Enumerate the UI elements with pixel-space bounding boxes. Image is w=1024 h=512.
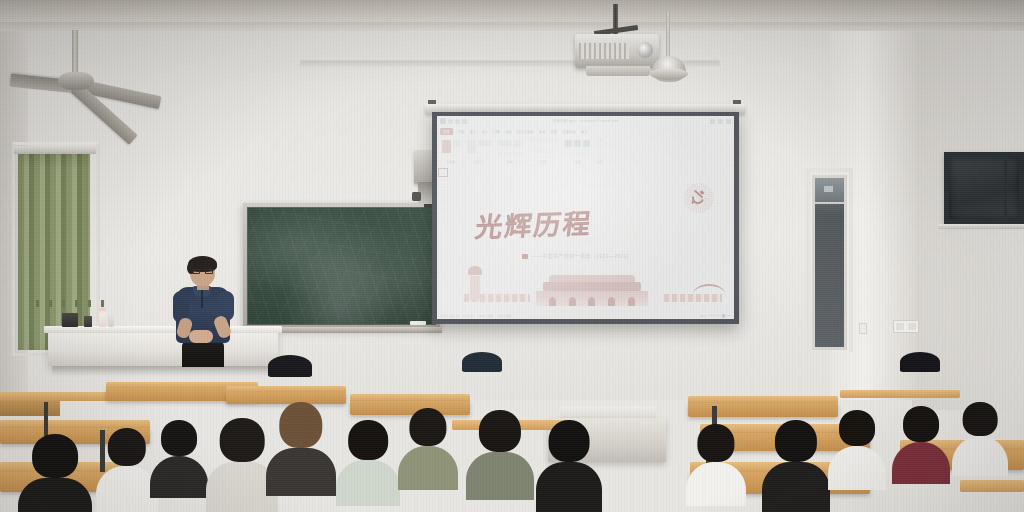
baseball-cap bbox=[900, 352, 940, 372]
cut-icon[interactable] bbox=[453, 140, 460, 147]
columns-icon[interactable] bbox=[539, 149, 543, 153]
powerpoint-title-bar: 光辉历程.pptx - Microsoft PowerPoint bbox=[437, 116, 734, 127]
status-bar: 幻灯片 第 1 张，共 18 张 “Office 主题” 中文(中国) 66% bbox=[437, 311, 734, 319]
chalk-stick bbox=[410, 321, 426, 325]
presenter-legs bbox=[182, 341, 224, 367]
projector-base bbox=[586, 66, 650, 76]
audience-torso bbox=[686, 462, 746, 506]
blackboard-surface bbox=[247, 207, 436, 325]
ribbon-group-label: 绘图 bbox=[574, 160, 580, 165]
audience-torso bbox=[828, 446, 886, 490]
audience-member bbox=[18, 434, 92, 512]
tab-home[interactable]: 开始 bbox=[458, 129, 465, 134]
gate-arches bbox=[536, 291, 648, 306]
ribbon-group-label: 字体 bbox=[507, 160, 513, 165]
podium-clear-bottle bbox=[108, 312, 114, 327]
ceiling-projector-icon bbox=[575, 34, 659, 68]
tab-format[interactable]: 格式 bbox=[581, 129, 588, 134]
tab-file[interactable]: 文件 bbox=[440, 128, 453, 135]
zoom-slider[interactable] bbox=[709, 315, 731, 316]
zoom-slider-knob[interactable] bbox=[722, 314, 725, 318]
audience-member bbox=[892, 406, 950, 484]
speaker-bracket bbox=[412, 192, 421, 201]
podium bbox=[48, 330, 278, 366]
fan-rod bbox=[72, 30, 78, 74]
align-left-icon[interactable] bbox=[544, 138, 548, 142]
light-switch-panel[interactable] bbox=[893, 320, 919, 333]
italic-icon[interactable] bbox=[503, 152, 507, 156]
audience-torso bbox=[762, 462, 830, 512]
audience-head bbox=[697, 424, 734, 462]
language-indicator: 中文(中国) bbox=[498, 314, 512, 318]
line-spacing-icon[interactable] bbox=[534, 149, 538, 153]
fan-hub bbox=[58, 72, 94, 90]
audience-head bbox=[161, 420, 197, 456]
slide-subtitle-placeholder[interactable]: ——中国共产党的一百年（1921—2021） bbox=[522, 253, 632, 260]
replace-icon[interactable] bbox=[598, 145, 602, 149]
theme-indicator: “Office 主题” bbox=[477, 314, 494, 318]
quick-styles-icon[interactable] bbox=[583, 140, 590, 147]
audience-member bbox=[466, 410, 534, 500]
tab-baidu-netdisk[interactable]: 百度网盘 bbox=[562, 129, 576, 134]
audience-torso bbox=[892, 442, 950, 484]
slide-stage: 光辉历程 ——中国共产党的一百年（1921—2021） bbox=[450, 166, 734, 311]
door-sign bbox=[824, 186, 833, 192]
tab-slideshow[interactable]: 幻灯片放映 bbox=[517, 129, 534, 134]
lens-left bbox=[192, 269, 200, 274]
powerpoint-body: 光辉历程 ——中国共产党的一百年（1921—2021） bbox=[437, 166, 734, 311]
slide-thumbnail-pane[interactable] bbox=[437, 166, 450, 311]
window bbox=[944, 152, 1024, 224]
gate-arch bbox=[549, 297, 556, 306]
tower-roof bbox=[468, 266, 482, 275]
audience-torso bbox=[266, 448, 336, 496]
audience-member bbox=[398, 408, 458, 490]
indent-icon[interactable] bbox=[539, 138, 543, 142]
curtain-rail bbox=[14, 146, 96, 154]
audience-torso bbox=[18, 478, 92, 512]
shapes-icon[interactable] bbox=[565, 140, 572, 147]
slide-title-text: 光辉历程 bbox=[473, 201, 594, 244]
new-slide-icon[interactable] bbox=[467, 140, 476, 153]
tab-view[interactable]: 视图 bbox=[550, 129, 557, 134]
text-direction-icon[interactable] bbox=[544, 149, 548, 153]
ribbon-group-paragraph[interactable]: 段落 bbox=[526, 138, 562, 165]
audience-torso bbox=[96, 466, 158, 512]
audience-member bbox=[828, 410, 886, 490]
audience-torso bbox=[536, 462, 602, 512]
shape-fill-icon[interactable] bbox=[571, 152, 575, 156]
audience-torso bbox=[398, 446, 458, 490]
underline-icon[interactable] bbox=[508, 152, 512, 156]
audience-torso bbox=[336, 460, 400, 506]
audience-head bbox=[963, 402, 998, 436]
ribbon-group-label: 编辑 bbox=[597, 160, 603, 165]
shape-effects-icon[interactable] bbox=[581, 152, 585, 156]
audience-member bbox=[686, 424, 746, 506]
audience-head bbox=[775, 420, 817, 462]
window-sill bbox=[938, 224, 1024, 229]
tab-transitions[interactable]: 切换 bbox=[493, 129, 500, 134]
gate-upper-roof bbox=[549, 275, 635, 282]
podium-top-surface bbox=[44, 326, 282, 333]
audience-head bbox=[220, 418, 265, 462]
ribbon-group-label: 幻灯片 bbox=[474, 160, 483, 165]
slide-thumbnail[interactable] bbox=[438, 201, 448, 210]
tower-body bbox=[470, 276, 480, 300]
shape-outline-icon[interactable] bbox=[576, 152, 580, 156]
audience-member bbox=[536, 420, 602, 512]
decorative-ribbon bbox=[692, 284, 726, 296]
audience-member bbox=[952, 402, 1008, 476]
powerpoint-window[interactable]: 光辉历程.pptx - Microsoft PowerPoint 文件 开始 插… bbox=[437, 116, 734, 319]
switch-toggle[interactable] bbox=[908, 323, 916, 330]
slide-indicator: 幻灯片 第 1 张，共 18 张 bbox=[440, 314, 473, 318]
curtain-hooks bbox=[36, 300, 108, 307]
presenter-placket bbox=[201, 290, 203, 308]
podium-shadow bbox=[52, 366, 274, 376]
audience-torso bbox=[150, 456, 208, 498]
select-icon[interactable] bbox=[598, 153, 602, 157]
tab-insert[interactable]: 插入 bbox=[470, 129, 477, 134]
audience-head bbox=[108, 428, 146, 466]
spotlight-rod bbox=[666, 12, 670, 60]
baseball-cap bbox=[462, 352, 502, 372]
window-caption: 光辉历程.pptx - Microsoft PowerPoint bbox=[437, 119, 734, 124]
audience-head bbox=[479, 410, 521, 452]
sickle-handle bbox=[691, 199, 694, 204]
presenter bbox=[172, 258, 234, 366]
projection-surface: 光辉历程.pptx - Microsoft PowerPoint 文件 开始 插… bbox=[437, 116, 734, 319]
font-color-icon[interactable] bbox=[518, 152, 522, 156]
tab-review[interactable]: 审阅 bbox=[539, 129, 546, 134]
shadow-icon[interactable] bbox=[513, 152, 517, 156]
audience-head bbox=[839, 410, 875, 446]
find-icon[interactable] bbox=[598, 138, 602, 142]
align-center-icon[interactable] bbox=[549, 138, 553, 142]
tiananmen-gate-illustration bbox=[454, 266, 730, 308]
spotlight-ring bbox=[650, 68, 688, 80]
ribbon-group-label: 段落 bbox=[540, 160, 546, 165]
audience-torso bbox=[466, 452, 534, 500]
bullets-icon[interactable] bbox=[529, 138, 533, 142]
gate-tower bbox=[468, 266, 482, 300]
ribbon-group-editing[interactable]: 编辑 bbox=[594, 138, 607, 165]
status-right-cluster[interactable]: 66% bbox=[700, 314, 731, 318]
baseball-cap bbox=[268, 355, 312, 377]
slide-thumbnail[interactable] bbox=[438, 179, 448, 188]
audience-head bbox=[409, 408, 446, 446]
desk-row bbox=[960, 480, 1024, 492]
podium-water-bottle bbox=[99, 308, 106, 327]
slide-title-placeholder[interactable]: 光辉历程 bbox=[476, 201, 636, 245]
ribbon-tab-strip[interactable]: 文件 开始 插入 设计 切换 动画 幻灯片放映 审阅 视图 百度网盘 格式 bbox=[437, 127, 734, 136]
gate-arch bbox=[608, 297, 615, 306]
bold-icon[interactable] bbox=[498, 152, 502, 156]
glasses-icon bbox=[192, 269, 213, 274]
podium-black-box bbox=[62, 313, 78, 327]
light-switch[interactable] bbox=[859, 323, 867, 334]
font-size-box[interactable] bbox=[514, 140, 521, 147]
audience-member bbox=[150, 420, 208, 498]
audience-head bbox=[549, 420, 590, 462]
window-mullion bbox=[1004, 152, 1007, 224]
zoom-level: 66% bbox=[700, 314, 706, 318]
audience-head bbox=[279, 402, 322, 448]
arrange-icon[interactable] bbox=[574, 140, 581, 147]
font-name-box[interactable] bbox=[499, 140, 512, 146]
emblem-core bbox=[691, 190, 707, 206]
window-curtain bbox=[18, 150, 90, 350]
audience-member bbox=[266, 402, 336, 496]
align-right-icon[interactable] bbox=[554, 138, 558, 142]
ribbon-group-drawing[interactable]: 绘图 bbox=[562, 138, 594, 165]
presenter-hands bbox=[189, 330, 213, 343]
audience-torso bbox=[952, 436, 1008, 476]
paste-icon[interactable] bbox=[442, 140, 451, 153]
slide-thumbnail[interactable] bbox=[438, 190, 448, 199]
gate-arch bbox=[628, 297, 635, 306]
gate-lower-roof bbox=[543, 282, 641, 291]
chalk-smudges bbox=[248, 208, 435, 324]
convert-smartart-icon[interactable] bbox=[549, 149, 553, 153]
audience-member bbox=[96, 428, 158, 512]
desk-leg bbox=[44, 402, 48, 436]
layout-icon[interactable] bbox=[478, 140, 491, 146]
party-flag-icon bbox=[522, 254, 528, 259]
audience-head bbox=[903, 406, 939, 442]
desk-row bbox=[840, 390, 960, 398]
audience-head bbox=[348, 420, 388, 460]
tab-animations[interactable]: 动画 bbox=[505, 129, 512, 134]
audience-head bbox=[32, 434, 78, 478]
ribbon-group-slides[interactable]: 幻灯片 bbox=[464, 138, 495, 165]
audience-member bbox=[336, 420, 400, 506]
slide-canvas[interactable]: 光辉历程 ——中国共产党的一百年（1921—2021） bbox=[453, 168, 731, 309]
slide-thumbnail[interactable] bbox=[438, 168, 448, 177]
ceiling-spotlight-icon bbox=[648, 12, 688, 90]
desk-row bbox=[688, 403, 838, 417]
podium-dark-cup bbox=[84, 316, 92, 327]
slide-thumbnail[interactable] bbox=[438, 212, 448, 221]
audience-member bbox=[762, 420, 830, 512]
projector-vents bbox=[579, 43, 629, 59]
gate-arch bbox=[588, 297, 595, 306]
ribbon-group-clipboard[interactable]: 剪贴板 bbox=[439, 138, 464, 165]
lens-right bbox=[205, 269, 213, 274]
ceiling-fan-icon bbox=[14, 30, 154, 120]
tab-design[interactable]: 设计 bbox=[481, 129, 488, 134]
ribbon[interactable]: 剪贴板 幻灯片 bbox=[437, 136, 734, 166]
gate-arch bbox=[569, 297, 576, 306]
projection-screen: 光辉历程.pptx - Microsoft PowerPoint 文件 开始 插… bbox=[432, 112, 739, 324]
switch-toggle[interactable] bbox=[896, 323, 904, 330]
classroom-scene: 光辉历程.pptx - Microsoft PowerPoint 文件 开始 插… bbox=[0, 0, 1024, 512]
blackboard bbox=[243, 203, 440, 329]
numbering-icon[interactable] bbox=[534, 138, 538, 142]
slide-subtitle-text: ——中国共产党的一百年（1921—2021） bbox=[531, 253, 632, 260]
cpc-hammer-sickle-emblem-icon bbox=[684, 183, 714, 213]
ribbon-group-label: 剪贴板 bbox=[446, 160, 455, 165]
ribbon-group-font[interactable]: 字体 bbox=[495, 138, 526, 165]
